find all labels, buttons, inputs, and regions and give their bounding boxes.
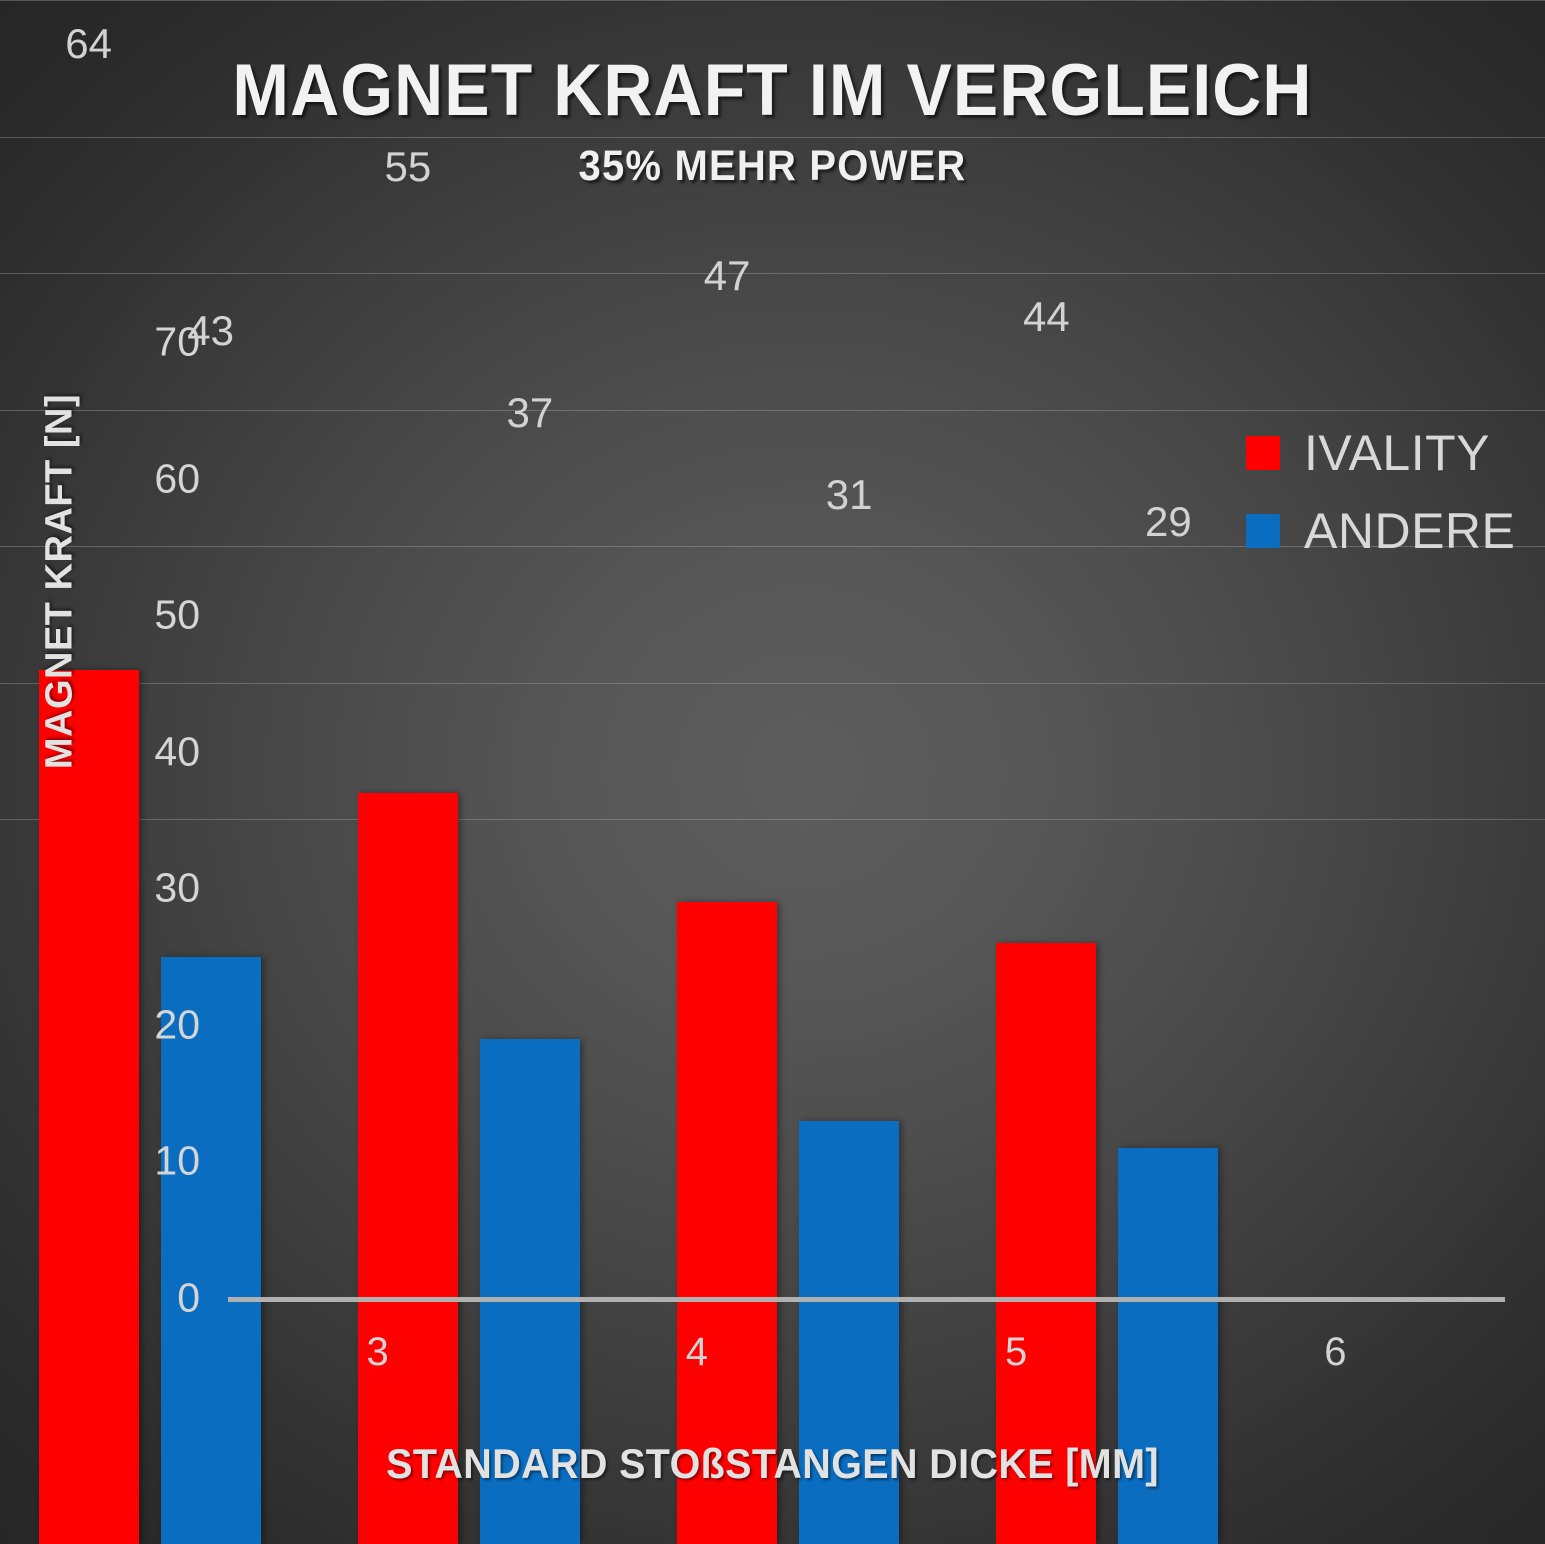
legend-label-andere: ANDERE [1304,502,1515,560]
bar-value-label: 37 [507,389,554,437]
bar-value-label: 55 [385,143,432,191]
red-square-swatch-icon [1246,436,1280,470]
bar-value-label: 47 [704,252,751,300]
chart-legend: IVALITY ANDERE [1246,414,1515,570]
x-tick-label: 6 [1324,1330,1346,1375]
gridline [0,819,1545,820]
y-tick-label: 70 [80,319,200,366]
gridline [0,410,1545,411]
bar-value-label: 64 [65,20,112,68]
x-axis-title: STANDARD STOßSTANGEN DICKE [MM] [46,1440,1498,1488]
x-tick-label: 3 [367,1330,389,1375]
legend-label-ivality: IVALITY [1304,424,1490,482]
gridline [0,0,1545,1]
y-tick-label: 40 [80,728,200,775]
chart-subtitle: 35% MEHR POWER [54,142,1491,191]
chart-title: MAGNET KRAFT IM VERGLEICH [54,54,1491,128]
y-tick-label: 0 [80,1275,200,1322]
bar-value-label: 44 [1023,293,1070,341]
gridline [0,683,1545,684]
y-tick-label: 10 [80,1138,200,1185]
blue-square-swatch-icon [1246,514,1280,548]
y-tick-label: 50 [80,592,200,639]
legend-item-ivality[interactable]: IVALITY [1246,414,1515,492]
y-tick-label: 20 [80,1001,200,1048]
bar-ivality-4[interactable] [358,793,458,1544]
x-axis-line [228,1297,1505,1302]
chart-canvas: MAGNET KRAFT IM VERGLEICH 35% MEHR POWER… [0,0,1545,1544]
y-tick-label: 60 [80,455,200,502]
bar-value-label: 29 [1145,498,1192,546]
gridline [0,273,1545,274]
title-block: MAGNET KRAFT IM VERGLEICH 35% MEHR POWER [0,54,1545,191]
legend-item-andere[interactable]: ANDERE [1246,492,1515,570]
y-axis-title: MAGNET KRAFT [N] [39,322,82,842]
bar-value-label: 43 [187,307,234,355]
y-tick-label: 30 [80,865,200,912]
x-tick-label: 5 [1005,1330,1027,1375]
x-tick-label: 4 [686,1330,708,1375]
bar-value-label: 31 [826,471,873,519]
